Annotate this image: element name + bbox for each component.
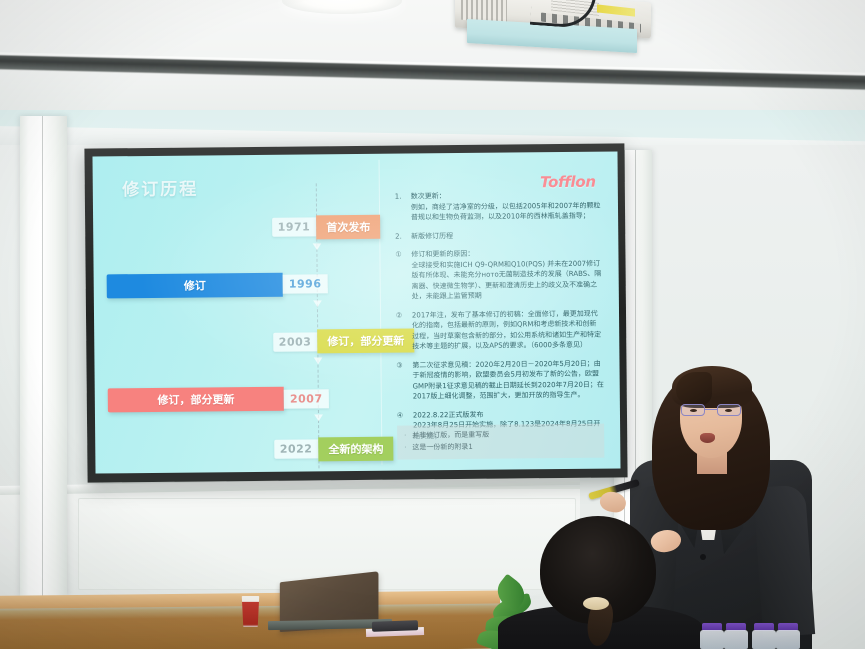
note-text: 并非修订版，而是重写版 [412, 430, 489, 443]
jacket-button [700, 554, 706, 560]
timeline-label: 全新的架构 [318, 436, 393, 461]
timeline-year: 1971 [272, 218, 317, 237]
timeline-item-1996: 修订 1996 [107, 275, 328, 296]
paragraph-marker: 1. [395, 192, 406, 224]
presenter-right-arm [753, 484, 815, 637]
slide-paragraph: 2. 新版修订历程 [395, 229, 602, 241]
presenter-bangs [676, 372, 712, 406]
presenter-mouth [700, 433, 715, 443]
coffee-cup [241, 596, 260, 627]
paragraph-lead: 新版修订历程 [411, 231, 453, 242]
paragraph-lead: 第二次征求意见稿：2020年2月20日－2020年5月20日；由于新冠疫情的影响… [412, 358, 604, 402]
presenter-eye [725, 409, 732, 412]
paragraph-detail: 全球接受和实施ICH Q9-QRM和Q10(PQS) 并未在2007修订版有所体… [411, 258, 603, 302]
water-bottle [724, 623, 748, 649]
timeline-year: 2003 [273, 332, 318, 351]
ceiling-projector [455, 0, 651, 53]
bullet-icon: · [404, 443, 406, 455]
bottle-body [752, 630, 776, 649]
water-bottle [700, 623, 724, 649]
presenter-glasses [681, 404, 741, 416]
timeline-item-2022: 2022 全新的架构 [274, 439, 394, 459]
timeline-item-2007: 修订，部分更新 2007 [108, 389, 329, 410]
timeline-notch [313, 300, 322, 307]
timeline-year: 2022 [274, 440, 319, 459]
timeline-label: 首次发布 [316, 215, 380, 240]
timeline-label: 修订，部分更新 [108, 387, 284, 413]
slide-text-column: 1. 数次更新： 例如，商经了洁净室的分级，以包括2005年和2007年的颗粒普… [395, 190, 605, 450]
water-bottle [752, 623, 776, 649]
paragraph-text: 修订和更新的原因： 全球接受和实施ICH Q9-QRM和Q10(PQS) 并未在… [411, 248, 603, 302]
paragraph-marker: ③ [396, 360, 407, 402]
timeline-label: 修订 [107, 273, 283, 299]
wall-pillar-left [20, 116, 67, 596]
slide-paragraph: ① 修订和更新的原因： 全球接受和实施ICH Q9-QRM和Q10(PQS) 并… [395, 248, 603, 302]
paragraph-marker: ① [395, 250, 407, 303]
timeline-notch [314, 357, 323, 364]
bottle-body [724, 630, 748, 649]
timeline-notch [314, 414, 323, 421]
timeline-item-2003: 2003 修订，部分更新 [273, 331, 415, 351]
paragraph-text: 第二次征求意见稿：2020年2月20日－2020年5月20日；由于新冠疫情的影响… [412, 358, 604, 402]
smartphone[interactable] [372, 620, 418, 632]
timeline-notch [312, 243, 321, 250]
paragraph-detail: 例如，商经了洁净室的分级，以包括2005年和2007年的颗粒普规以和生物负荷监测… [411, 200, 603, 223]
paragraph-marker: 2. [395, 231, 406, 242]
paragraph-marker: ② [396, 310, 407, 352]
slide-note-item: · 这是一份新的附录1 [404, 441, 597, 455]
presenter-eye [690, 409, 697, 412]
slide-content: 修订历程 Tofflon 1971 首次发布 修订 1996 2003 修订，部… [92, 151, 620, 473]
paragraph-text: 新版修订历程 [411, 231, 453, 242]
projector-warning-sticker [597, 4, 635, 16]
presentation-screen[interactable]: 修订历程 Tofflon 1971 首次发布 修订 1996 2003 修订，部… [84, 143, 627, 482]
tofflon-logo: Tofflon [540, 172, 596, 191]
glasses-bridge [705, 409, 717, 410]
water-bottle [776, 623, 800, 649]
paragraph-lead: 2017年注，发布了基本修订的初稿：全面修订，最更加现代化的指南，包括最新的原则… [412, 308, 604, 352]
timeline-year: 2007 [284, 389, 329, 408]
timeline-item-1971: 1971 首次发布 [272, 217, 381, 237]
note-text: 这是一份新的附录1 [412, 442, 473, 454]
paragraph-text: 数次更新： 例如，商经了洁净室的分级，以包括2005年和2007年的颗粒普规以和… [411, 190, 603, 223]
slide-title: 修订历程 [122, 175, 198, 201]
slide-paragraph: ② 2017年注，发布了基本修订的初稿：全面修订，最更加现代化的指南，包括最新的… [396, 308, 604, 352]
bottle-body [776, 630, 800, 649]
slide-column-divider [379, 160, 383, 464]
paragraph-text: 2017年注，发布了基本修订的初稿：全面修订，最更加现代化的指南，包括最新的原则… [412, 308, 604, 352]
slide-paragraph: 1. 数次更新： 例如，商经了洁净室的分级，以包括2005年和2007年的颗粒普… [395, 190, 603, 223]
timeline-year: 1996 [283, 275, 328, 294]
bullet-icon: · [404, 431, 406, 443]
hair-tie [583, 597, 609, 610]
slide-notes-box: · 并非修订版，而是重写版 · 这是一份新的附录1 [397, 424, 605, 460]
slide-paragraph: ③ 第二次征求意见稿：2020年2月20日－2020年5月20日；由于新冠疫情的… [396, 358, 604, 402]
conference-room-scene: 修订历程 Tofflon 1971 首次发布 修订 1996 2003 修订，部… [0, 0, 865, 649]
bottle-body [700, 630, 724, 649]
